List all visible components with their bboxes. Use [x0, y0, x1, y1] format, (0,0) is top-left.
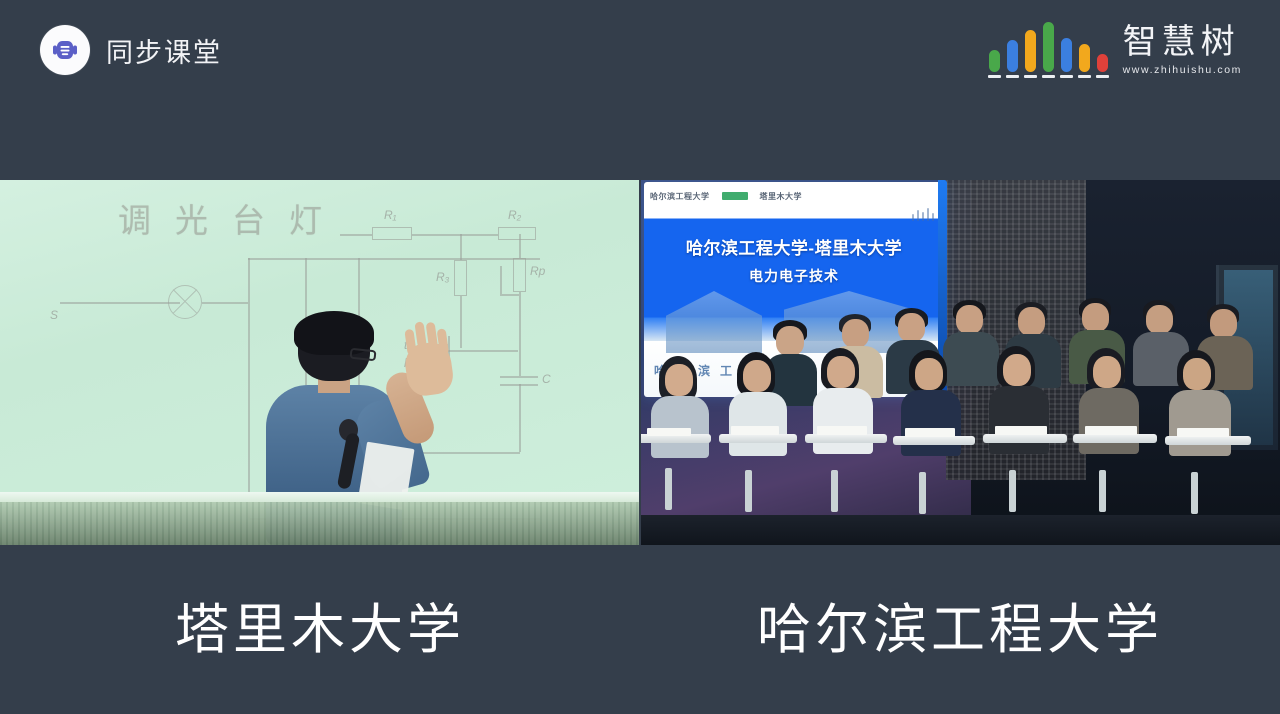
- dual-video-stage: 调光台灯 S R₁: [0, 180, 1280, 545]
- page-header: 同步课堂 智慧树 www.zhihuishu.com: [0, 0, 1280, 180]
- video-pane-harbin[interactable]: 哈尔滨工程大学 塔里木大学 哈尔滨工程大学 哈尔滨工程大学-塔里木大学 电力电子…: [641, 180, 1280, 545]
- circuit-label-r3: R₃: [436, 270, 449, 284]
- circuit-label-s: S: [50, 308, 58, 322]
- zhihuishu-bars-logo-icon: [988, 22, 1109, 78]
- circuit-label-c: C: [542, 372, 551, 386]
- brand-zhihuishu: 智慧树 www.zhihuishu.com: [988, 22, 1242, 78]
- lecture-hall-scene: 哈尔滨工程大学 塔里木大学 哈尔滨工程大学 哈尔滨工程大学-塔里木大学 电力电子…: [641, 180, 1280, 545]
- brand-title: 同步课堂: [106, 31, 222, 70]
- campus-building-left: [666, 291, 762, 353]
- hall-floor: [641, 515, 1280, 545]
- caption-left-text: 塔里木大学: [175, 603, 465, 657]
- zhihuishu-url: www.zhihuishu.com: [1123, 64, 1242, 76]
- projector-univ-left: 哈尔滨工程大学: [650, 191, 710, 202]
- projector-univ-right: 塔里木大学: [760, 191, 803, 202]
- projector-title-line1: 哈尔滨工程大学-塔里木大学: [644, 234, 944, 259]
- whiteboard-scene: 调光台灯 S R₁: [0, 180, 639, 545]
- zhihuishu-wordmark: 智慧树 www.zhihuishu.com: [1123, 25, 1242, 78]
- projector-top-logo-row: 哈尔滨工程大学 塔里木大学: [650, 185, 938, 207]
- brand-tongbu-ketang: 同步课堂: [40, 25, 222, 75]
- projector-zhihuishu-watermark-icon: [912, 208, 934, 221]
- circuit-label-r1: R₁: [384, 208, 396, 222]
- caption-right-text: 哈尔滨工程大学: [757, 603, 1163, 657]
- caption-bar: 塔里木大学 哈尔滨工程大学: [0, 545, 1280, 714]
- circuit-label-r2: R₂: [508, 208, 521, 222]
- whiteboard-title-text: 调光台灯: [118, 194, 346, 242]
- video-pane-tarim[interactable]: 调光台灯 S R₁: [0, 180, 639, 545]
- sync-classroom-page: 同步课堂 智慧树 www.zhihuishu.com 调光台灯: [0, 0, 1280, 714]
- zhihuishu-name: 智慧树: [1123, 25, 1240, 59]
- lamp-symbol: [168, 285, 202, 319]
- circuit-label-rp: Rp: [530, 264, 545, 278]
- tongbu-ketang-mascot-icon: [40, 25, 90, 75]
- projector-title-line2: 电力电子技术: [644, 266, 944, 286]
- wall-wainscoting: [0, 502, 639, 545]
- projector-zhihuishu-chip-icon: [722, 192, 748, 200]
- caption-right-university: 哈尔滨工程大学: [640, 545, 1280, 714]
- caption-left-university: 塔里木大学: [0, 545, 640, 714]
- whiteboard-rail: [0, 492, 639, 502]
